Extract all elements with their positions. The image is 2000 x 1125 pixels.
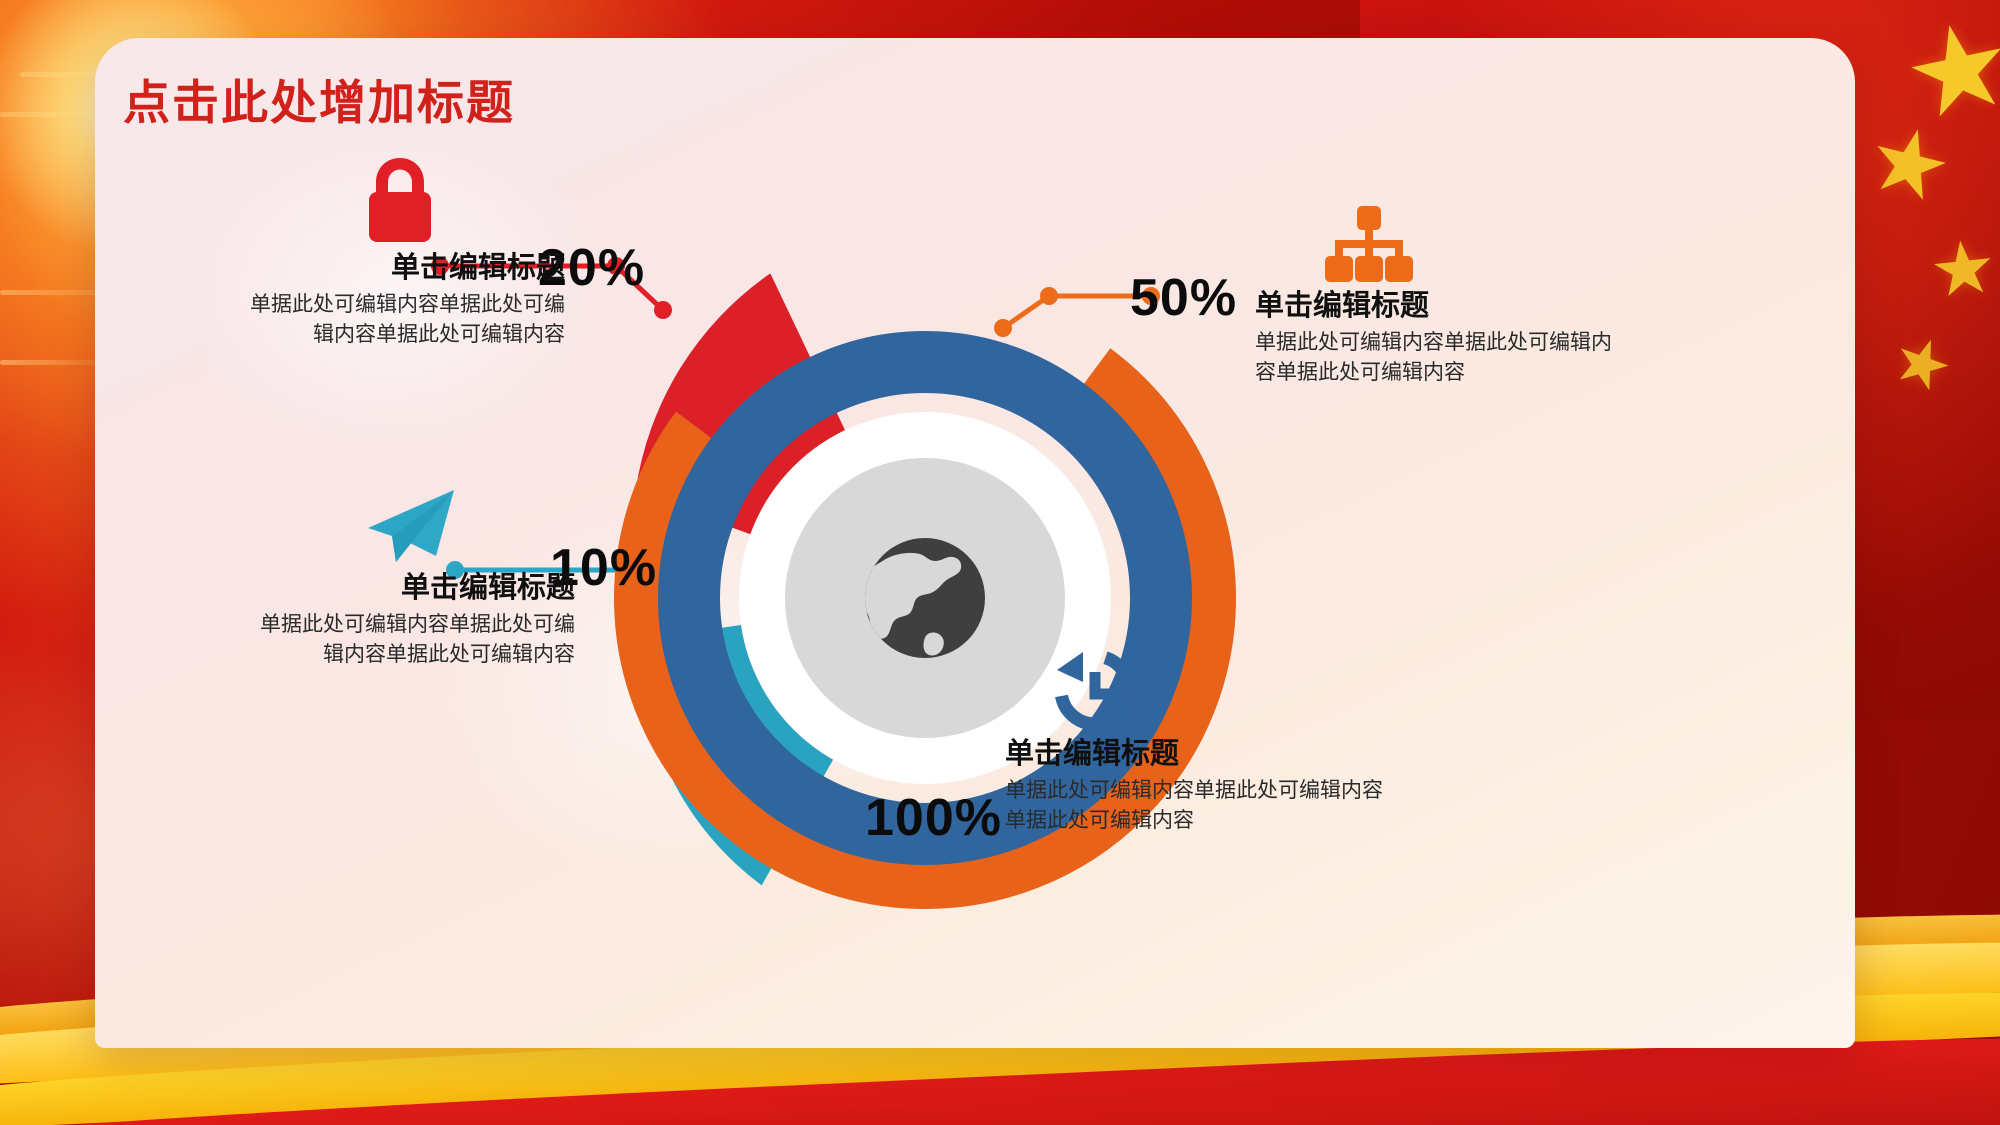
callout-heading: 单击编辑标题 <box>1005 738 1385 771</box>
paper-plane-icon <box>245 470 575 566</box>
callout-body: 单据此处可编辑内容单据此处可编辑内容单据此处可编辑内容 <box>235 290 565 350</box>
callout-heading: 单击编辑标题 <box>235 252 565 285</box>
flag-star-2: ★ <box>1926 229 2000 310</box>
callout-body: 单据此处可编辑内容单据此处可编辑内容单据此处可编辑内容 <box>1005 776 1385 836</box>
callout-body: 单据此处可编辑内容单据此处可编辑内容单据此处可编辑内容 <box>1255 328 1615 388</box>
callout-heading: 单击编辑标题 <box>245 572 575 605</box>
history-clock-icon <box>1005 636 1385 732</box>
callout-top-left[interactable]: 单击编辑标题 单据此处可编辑内容单据此处可编辑内容单据此处可编辑内容 <box>235 150 565 350</box>
callout-heading: 单击编辑标题 <box>1255 290 1615 323</box>
callout-top-right[interactable]: 单击编辑标题 单据此处可编辑内容单据此处可编辑内容单据此处可编辑内容 <box>1255 188 1615 388</box>
lock-icon <box>235 150 565 246</box>
callout-bottom-left[interactable]: 单击编辑标题 单据此处可编辑内容单据此处可编辑内容单据此处可编辑内容 <box>245 470 575 670</box>
slide-canvas: ★ ★ ★ ★ 点击此处增加标题 <box>0 0 2000 1125</box>
percent-label-100: 100% <box>865 788 1002 848</box>
content-card: 点击此处增加标题 <box>95 38 1855 1048</box>
callout-body: 单据此处可编辑内容单据此处可编辑内容单据此处可编辑内容 <box>245 610 575 670</box>
callout-bottom-right[interactable]: 单击编辑标题 单据此处可编辑内容单据此处可编辑内容单据此处可编辑内容 <box>1005 636 1385 836</box>
percent-label-50: 50% <box>1130 268 1237 328</box>
org-chart-icon <box>1255 188 1615 284</box>
page-title: 点击此处增加标题 <box>123 64 515 133</box>
